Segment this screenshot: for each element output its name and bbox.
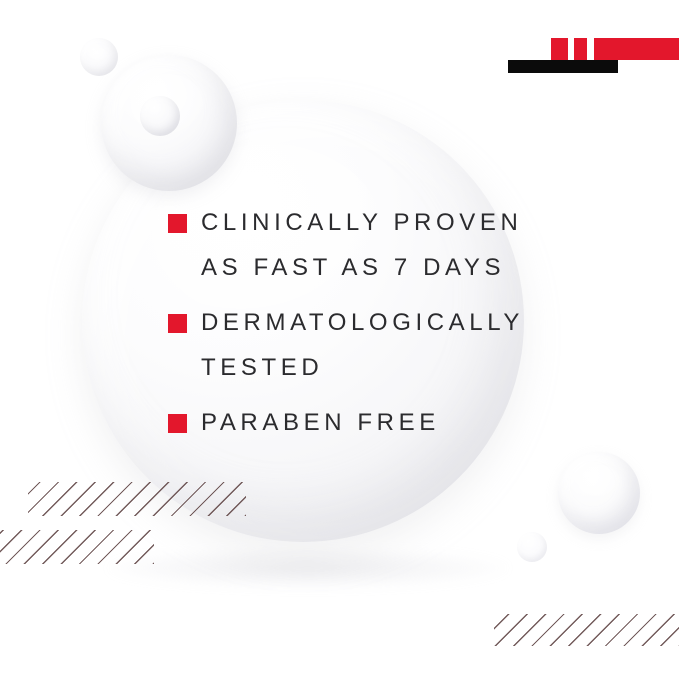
hatch-band-bottom-right bbox=[494, 614, 679, 646]
hatch-band-left-upper bbox=[28, 482, 246, 516]
claim-text-line1: DERMATOLOGICALLY bbox=[201, 308, 524, 337]
claim-text-line1: PARABEN FREE bbox=[201, 408, 440, 437]
bullet-square-icon bbox=[168, 314, 187, 333]
claim-item: CLINICALLY PROVEN bbox=[168, 208, 548, 237]
claim-item: PARABEN FREE bbox=[168, 408, 548, 437]
brand-accent-square-2 bbox=[574, 38, 587, 60]
claim-text-line1: CLINICALLY PROVEN bbox=[201, 208, 522, 237]
bubble-bottom-right-tiny bbox=[517, 532, 547, 562]
bubble-top-left-small bbox=[80, 38, 118, 76]
bubble-inner-small bbox=[140, 96, 180, 136]
product-claims-graphic: CLINICALLY PROVEN AS FAST AS 7 DAYS DERM… bbox=[0, 0, 679, 679]
claim-text-line2: AS FAST AS 7 DAYS bbox=[168, 253, 548, 282]
bubble-right-medium bbox=[558, 452, 640, 534]
brand-accent-black-bar bbox=[508, 60, 618, 73]
claim-item: DERMATOLOGICALLY bbox=[168, 308, 548, 337]
bullet-square-icon bbox=[168, 214, 187, 233]
brand-accent-long-bar bbox=[594, 38, 679, 60]
claim-text-line2: TESTED bbox=[168, 353, 548, 382]
ground-shadow bbox=[108, 548, 508, 588]
brand-accent-square-1 bbox=[551, 38, 568, 60]
claims-list: CLINICALLY PROVEN AS FAST AS 7 DAYS DERM… bbox=[168, 208, 548, 459]
hatch-band-left-lower bbox=[0, 530, 154, 564]
bullet-square-icon bbox=[168, 414, 187, 433]
